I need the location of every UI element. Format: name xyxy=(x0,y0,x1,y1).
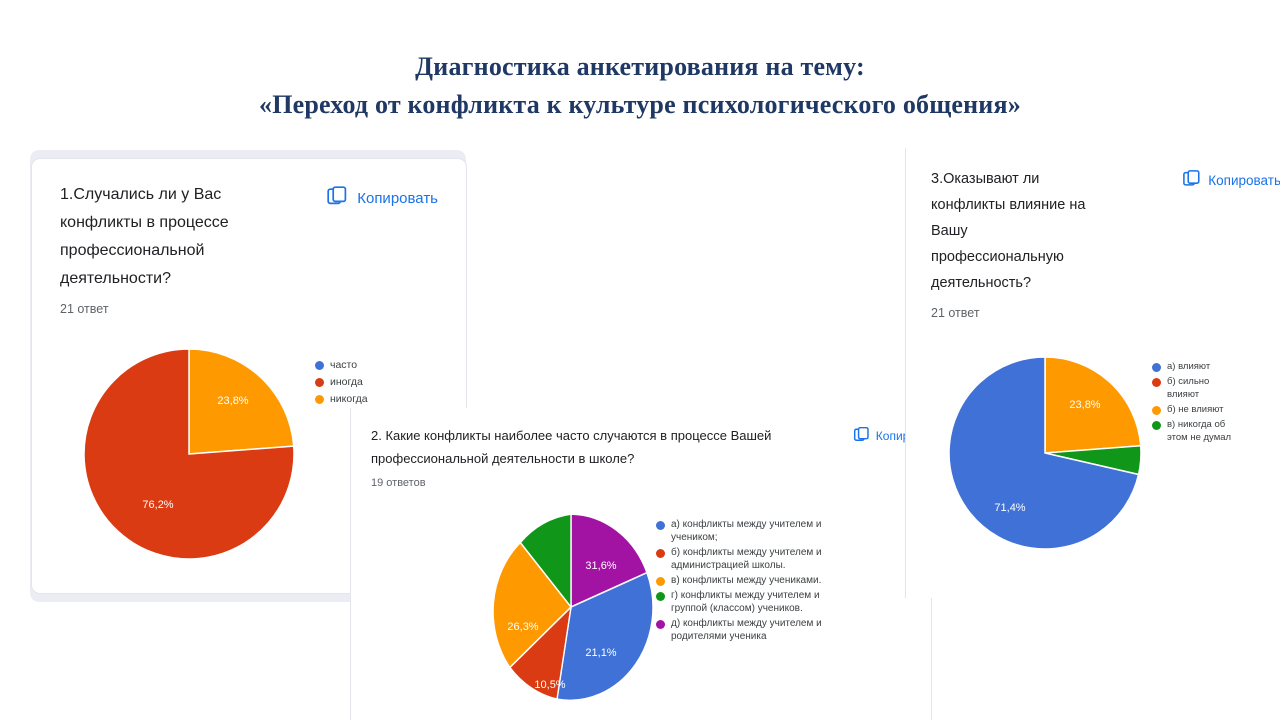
legend-dot-red xyxy=(656,549,665,558)
card-3-pie: 23,8% 71,4% xyxy=(945,353,1145,553)
legend-dot-green xyxy=(1152,421,1161,430)
legend-item[interactable]: в) конфликты между учениками. xyxy=(656,574,921,587)
legend-label: б) сильно влияют xyxy=(1167,375,1209,401)
card-1-legend: часто иногда никогда xyxy=(315,358,445,409)
legend-dot-purple xyxy=(656,620,665,629)
legend-dot-blue xyxy=(1152,363,1161,372)
legend-item[interactable]: д) конфликты между учителем и родителями… xyxy=(656,617,921,643)
legend-item[interactable]: иногда xyxy=(315,375,445,390)
card-1-pie: 23,8% 76,2% xyxy=(80,345,298,563)
legend-label: б) не влияют xyxy=(1167,403,1224,416)
legend-item[interactable]: б) конфликты между учителем и администра… xyxy=(656,546,921,572)
legend-label: часто xyxy=(330,358,357,373)
card-2-chart: 31,6% 21,1% 10,5% 26,3% а) конфликты меж… xyxy=(351,408,931,720)
card-2-legend: а) конфликты между учителем и учеником; … xyxy=(656,518,921,645)
legend-dot-blue xyxy=(315,361,324,370)
legend-label: д) конфликты между учителем и родителями… xyxy=(671,617,822,643)
card-2-pie-svg xyxy=(488,514,654,700)
legend-label: а) влияют xyxy=(1167,360,1210,373)
legend-label: в) конфликты между учениками. xyxy=(671,574,821,587)
page-title-line-2: «Переход от конфликта к культуре психоло… xyxy=(0,86,1280,124)
legend-dot-orange xyxy=(315,395,324,404)
page-title-line-1: Диагностика анкетирования на тему: xyxy=(415,52,865,81)
legend-item[interactable]: б) не влияют xyxy=(1152,403,1280,416)
legend-label: б) конфликты между учителем и администра… xyxy=(671,546,822,572)
legend-item[interactable]: в) никогда об этом не думал xyxy=(1152,418,1280,444)
card-3-pie-svg xyxy=(945,353,1145,553)
legend-dot-green xyxy=(656,592,665,601)
card-2-pie: 31,6% 21,1% 10,5% 26,3% xyxy=(488,514,654,700)
card-3: 3.Оказывают ли конфликты влияние на Вашу… xyxy=(905,148,1280,598)
legend-dot-red xyxy=(1152,378,1161,387)
slice-ne-vliyayut xyxy=(1045,357,1141,453)
legend-dot-orange xyxy=(1152,406,1161,415)
page-title: Диагностика анкетирования на тему: «Пере… xyxy=(0,48,1280,124)
legend-item[interactable]: никогда xyxy=(315,392,445,407)
legend-dot-orange xyxy=(656,577,665,586)
card-3-chart: 23,8% 71,4% а) влияют б) сильно влияют б… xyxy=(906,148,1280,598)
legend-label: никогда xyxy=(330,392,368,407)
legend-item[interactable]: б) сильно влияют xyxy=(1152,375,1280,401)
legend-dot-red xyxy=(315,378,324,387)
legend-item[interactable]: а) влияют xyxy=(1152,360,1280,373)
legend-item[interactable]: а) конфликты между учителем и учеником; xyxy=(656,518,921,544)
legend-label: иногда xyxy=(330,375,363,390)
slice-nikogda xyxy=(189,349,294,454)
card-3-legend: а) влияют б) сильно влияют б) не влияют … xyxy=(1152,360,1280,446)
card-1-pie-svg xyxy=(80,345,298,563)
card-2: 2. Какие конфликты наиболее часто случаю… xyxy=(350,408,932,720)
legend-item[interactable]: часто xyxy=(315,358,445,373)
legend-label: в) никогда об этом не думал xyxy=(1167,418,1231,444)
legend-label: г) конфликты между учителем и группой (к… xyxy=(671,589,820,615)
legend-item[interactable]: г) конфликты между учителем и группой (к… xyxy=(656,589,921,615)
legend-label: а) конфликты между учителем и учеником; xyxy=(671,518,821,544)
legend-dot-blue xyxy=(656,521,665,530)
